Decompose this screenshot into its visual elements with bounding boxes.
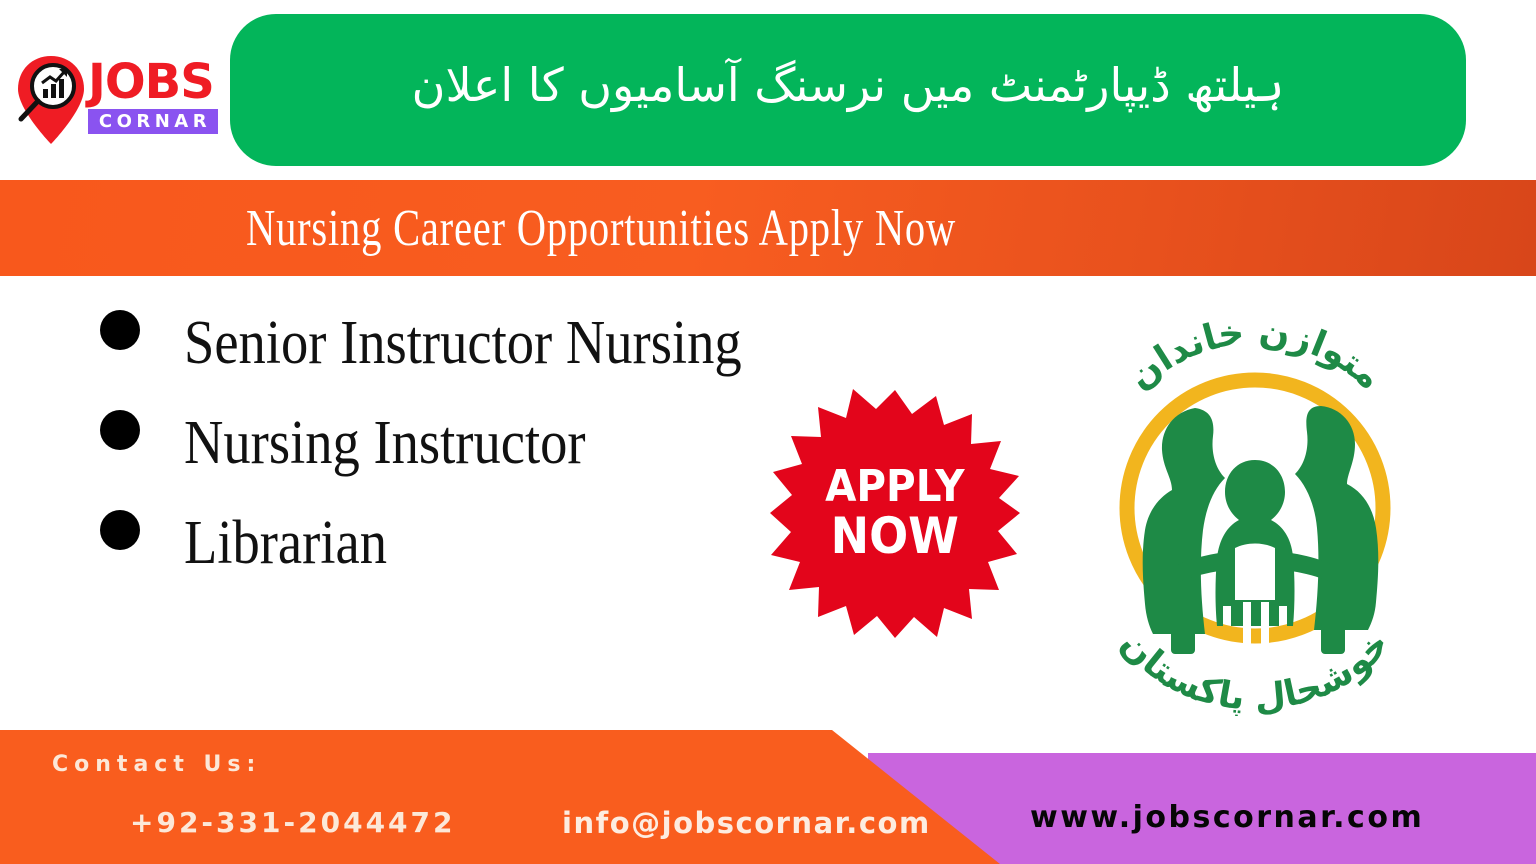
title-bar: Nursing Career Opportunities Apply Now: [0, 180, 1536, 276]
page-title: Nursing Career Opportunities Apply Now: [246, 199, 956, 258]
job-title: Librarian: [184, 494, 779, 592]
urdu-headline-text: ہیلتھ ڈیپارٹمنٹ میں نرسنگ آسامیوں کا اعل…: [384, 54, 1313, 126]
list-item: Senior Instructor Nursing: [100, 294, 860, 392]
bullet-icon: [100, 510, 140, 550]
brand-wordmark: JOBS CORNAR: [88, 56, 218, 134]
footer-orange-band: [0, 730, 1060, 864]
bullet-icon: [100, 410, 140, 450]
contact-email[interactable]: info@jobscornar.com: [562, 806, 931, 840]
job-advertisement-poster: JOBS CORNAR ہیلتھ ڈیپارٹمنٹ میں نرسنگ آس…: [0, 0, 1536, 864]
apply-now-badge[interactable]: APPLY NOW: [770, 388, 1020, 638]
contact-phone[interactable]: +92-331-2044472: [130, 806, 456, 839]
website-url[interactable]: www.jobscornar.com: [1030, 800, 1424, 835]
brand-primary-text: JOBS: [88, 56, 218, 108]
urdu-headline-banner: ہیلتھ ڈیپارٹمنٹ میں نرسنگ آسامیوں کا اعل…: [230, 14, 1466, 166]
jobs-cornar-logo[interactable]: JOBS CORNAR: [6, 52, 221, 152]
job-positions-list: Senior Instructor Nursing Nursing Instru…: [100, 294, 860, 594]
contact-us-label: Contact Us:: [52, 752, 261, 777]
map-pin-search-chart-icon: [12, 52, 90, 148]
starburst-icon: [770, 388, 1020, 638]
job-title: Senior Instructor Nursing: [184, 294, 765, 392]
bullet-icon: [100, 310, 140, 350]
job-title: Nursing Instructor: [184, 394, 779, 492]
poster-footer: Contact Us: +92-331-2044472 info@jobscor…: [0, 730, 1536, 864]
poster-header: JOBS CORNAR ہیلتھ ڈیپارٹمنٹ میں نرسنگ آس…: [0, 0, 1536, 178]
list-item: Librarian: [100, 494, 860, 592]
population-welfare-department-logo: متوازن خاندان خوشحال پاکستان: [1075, 296, 1435, 716]
list-item: Nursing Instructor: [100, 394, 860, 492]
brand-secondary-text: CORNAR: [88, 109, 218, 134]
